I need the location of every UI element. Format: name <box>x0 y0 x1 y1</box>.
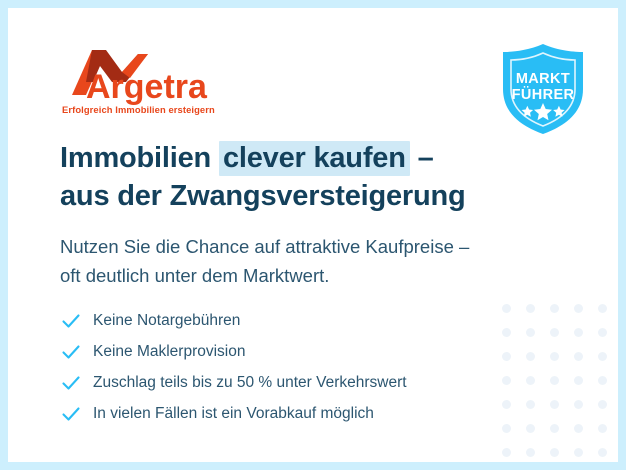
dot <box>574 328 583 337</box>
dot <box>550 304 559 313</box>
check-icon <box>61 404 81 424</box>
dot <box>574 448 583 457</box>
market-leader-badge: MARKT FÜHRER <box>497 41 589 137</box>
dot <box>574 376 583 385</box>
page-title: Immobilien clever kaufen – aus der Zwang… <box>60 139 466 215</box>
subheadline-line-2: oft deutlich unter dem Marktwert. <box>60 261 469 290</box>
headline-highlight: clever kaufen <box>219 141 410 176</box>
dot <box>526 424 535 433</box>
list-item-label: Zuschlag teils bis zu 50 % unter Verkehr… <box>93 375 407 391</box>
dot <box>574 424 583 433</box>
promo-banner: Argetra Erfolgreich Immobilien ersteiger… <box>0 0 626 470</box>
headline-suffix: – <box>410 142 434 174</box>
decorative-dot-grid <box>494 296 614 462</box>
check-icon <box>61 342 81 362</box>
list-item-label: In vielen Fällen ist ein Vorabkauf mögli… <box>93 406 374 422</box>
subheadline: Nutzen Sie die Chance auf attraktive Kau… <box>60 232 469 290</box>
dot <box>574 304 583 313</box>
dot <box>550 352 559 361</box>
banner-canvas: Argetra Erfolgreich Immobilien ersteiger… <box>8 8 618 462</box>
dot <box>598 376 607 385</box>
check-icon <box>61 311 81 331</box>
dot <box>502 352 511 361</box>
dot <box>526 352 535 361</box>
dot <box>502 400 511 409</box>
list-item: Keine Notargebühren <box>61 305 407 336</box>
dot <box>526 328 535 337</box>
benefits-list: Keine Notargebühren Keine Maklerprovisio… <box>61 305 407 429</box>
dot <box>574 352 583 361</box>
list-item: In vielen Fällen ist ein Vorabkauf mögli… <box>61 398 407 429</box>
dot <box>526 304 535 313</box>
dot <box>502 328 511 337</box>
dot <box>598 448 607 457</box>
dot <box>550 400 559 409</box>
list-item: Zuschlag teils bis zu 50 % unter Verkehr… <box>61 367 407 398</box>
dot <box>598 304 607 313</box>
dot <box>598 400 607 409</box>
dot <box>550 328 559 337</box>
headline-prefix: Immobilien <box>60 142 219 174</box>
dot <box>502 448 511 457</box>
list-item-label: Keine Maklerprovision <box>93 344 246 360</box>
subheadline-line-1: Nutzen Sie die Chance auf attraktive Kau… <box>60 232 469 261</box>
dot <box>502 304 511 313</box>
dot <box>502 424 511 433</box>
dot <box>550 376 559 385</box>
dot <box>598 352 607 361</box>
list-item-label: Keine Notargebühren <box>93 313 240 329</box>
dot <box>550 424 559 433</box>
badge-line-1: MARKT <box>516 71 570 87</box>
dot <box>526 448 535 457</box>
logo-tagline: Erfolgreich Immobilien ersteigern <box>62 104 215 115</box>
headline-line-2: aus der Zwangsversteigerung <box>60 177 466 215</box>
dot <box>502 376 511 385</box>
dot <box>526 400 535 409</box>
logo-wordmark: Argetra <box>86 68 208 106</box>
list-item: Keine Maklerprovision <box>61 336 407 367</box>
dot <box>598 328 607 337</box>
badge-line-2: FÜHRER <box>512 86 575 103</box>
argetra-logo[interactable]: Argetra Erfolgreich Immobilien ersteiger… <box>60 48 260 118</box>
dot <box>550 448 559 457</box>
dot <box>598 424 607 433</box>
check-icon <box>61 373 81 393</box>
dot <box>574 400 583 409</box>
dot <box>526 376 535 385</box>
headline-line-1: Immobilien clever kaufen – <box>60 139 466 177</box>
